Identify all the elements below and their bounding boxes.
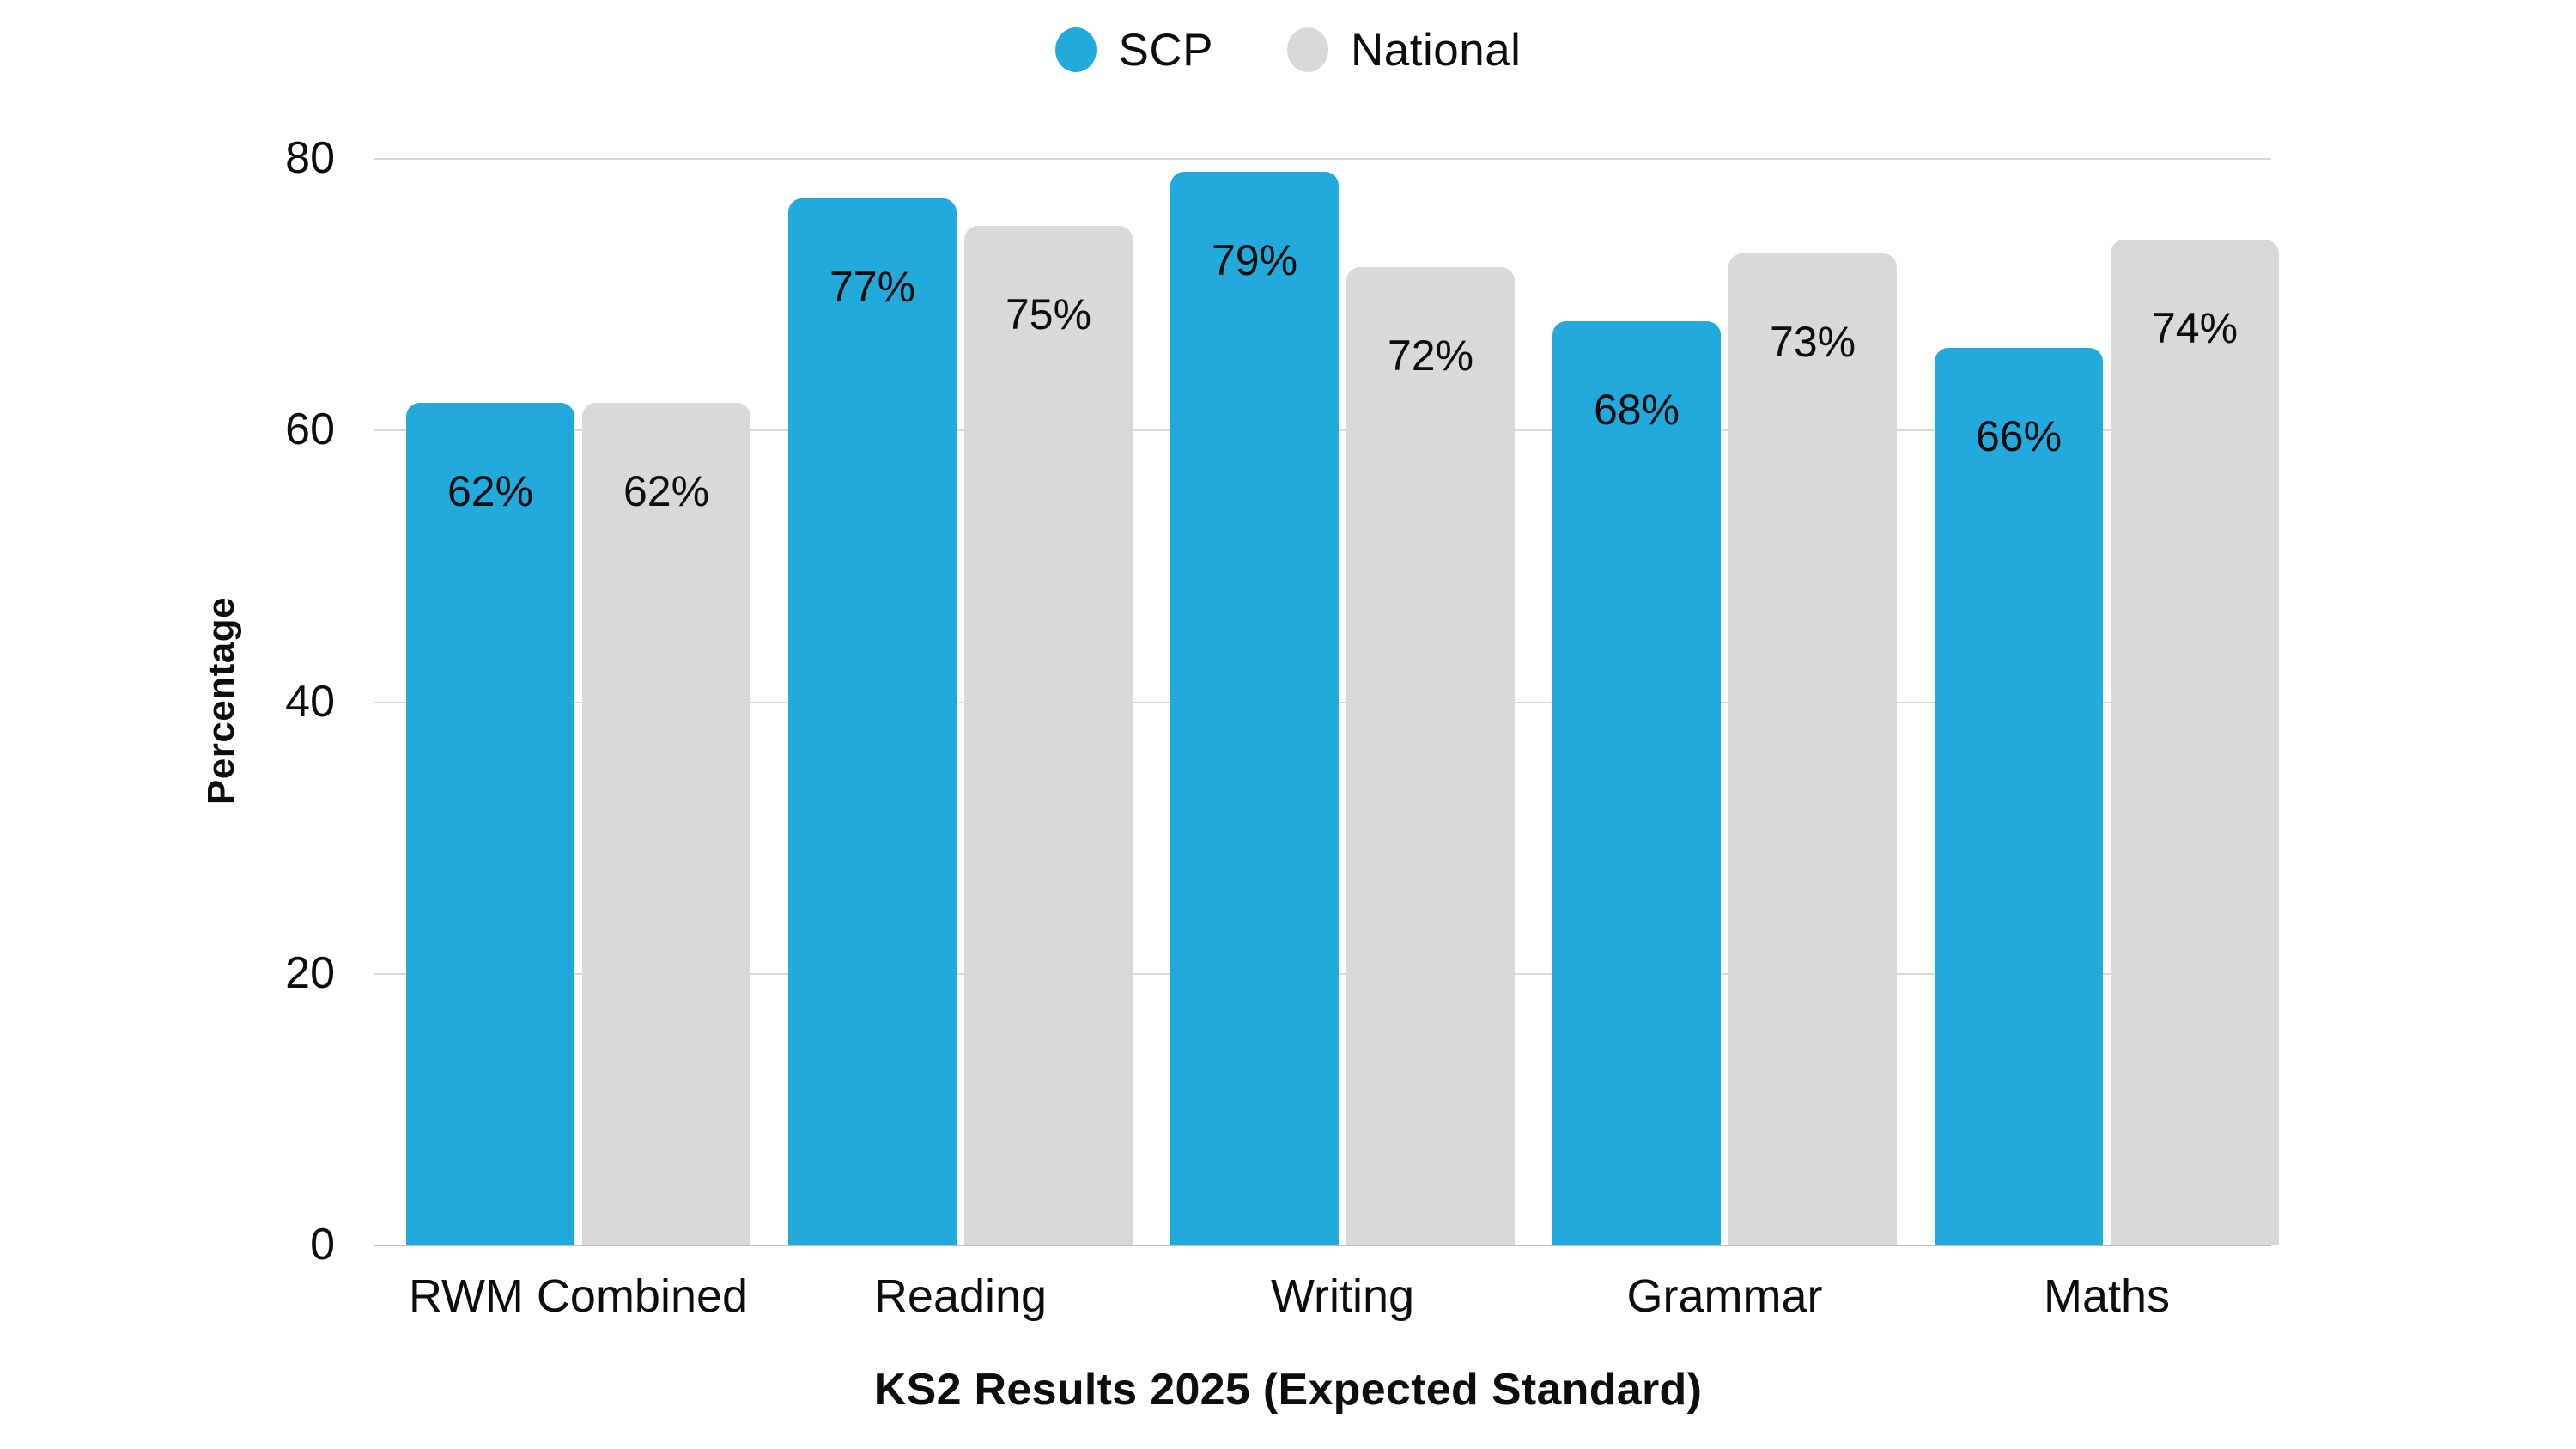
axis-baseline [374, 1245, 2271, 1246]
bar-national-writing[interactable]: 72% [1346, 267, 1515, 1245]
y-axis-ticks: 020406080 [0, 0, 361, 1449]
plot-area: 62%62%77%75%79%72%68%73%66%74% [374, 158, 2271, 1245]
y-tick-label: 80 [285, 136, 335, 180]
bar-value-label: 79% [1170, 239, 1339, 282]
bar-value-label: 62% [582, 470, 750, 513]
x-tick-label: Maths [2044, 1273, 2170, 1319]
bar-value-label: 62% [406, 470, 574, 513]
legend-item-scp[interactable]: SCP [1055, 27, 1213, 73]
bar-value-label: 77% [788, 265, 957, 308]
bar-national-reading[interactable]: 75% [964, 226, 1133, 1245]
bar-scp-maths[interactable]: 66% [1935, 348, 2103, 1245]
x-tick-label: Grammar [1627, 1273, 1823, 1319]
bar-national-grammar[interactable]: 73% [1728, 253, 1897, 1245]
bar-value-label: 75% [964, 293, 1133, 336]
x-tick-label: Writing [1271, 1273, 1414, 1319]
x-tick-label: RWM Combined [409, 1273, 748, 1319]
y-tick-label: 20 [285, 951, 335, 995]
bar-value-label: 68% [1552, 388, 1721, 431]
legend-label-national: National [1351, 27, 1521, 73]
bar-value-label: 73% [1728, 320, 1897, 363]
legend-label-scp: SCP [1119, 27, 1213, 73]
legend-item-national[interactable]: National [1287, 27, 1521, 73]
x-axis-title: KS2 Results 2025 (Expected Standard) [0, 1364, 2576, 1416]
x-tick-label: Reading [874, 1273, 1047, 1319]
bar-scp-reading[interactable]: 77% [788, 198, 957, 1245]
y-tick-label: 0 [310, 1222, 335, 1267]
bar-scp-writing[interactable]: 79% [1170, 172, 1339, 1245]
circle-marker-icon [1287, 27, 1328, 72]
bar-scp-rwm-combined[interactable]: 62% [406, 403, 574, 1245]
bar-value-label: 72% [1346, 334, 1515, 377]
circle-marker-icon [1055, 27, 1097, 72]
bar-value-label: 66% [1935, 415, 2103, 458]
bar-chart: SCP National Percentage 020406080 62%62%… [0, 0, 2576, 1449]
bar-value-label: 74% [2111, 307, 2279, 350]
bar-national-rwm-combined[interactable]: 62% [582, 403, 750, 1245]
bar-national-maths[interactable]: 74% [2111, 240, 2279, 1245]
y-tick-label: 40 [285, 679, 335, 724]
bar-scp-grammar[interactable]: 68% [1552, 321, 1721, 1245]
chart-legend: SCP National [0, 15, 2576, 84]
y-tick-label: 60 [285, 407, 335, 452]
gridline [374, 158, 2271, 160]
